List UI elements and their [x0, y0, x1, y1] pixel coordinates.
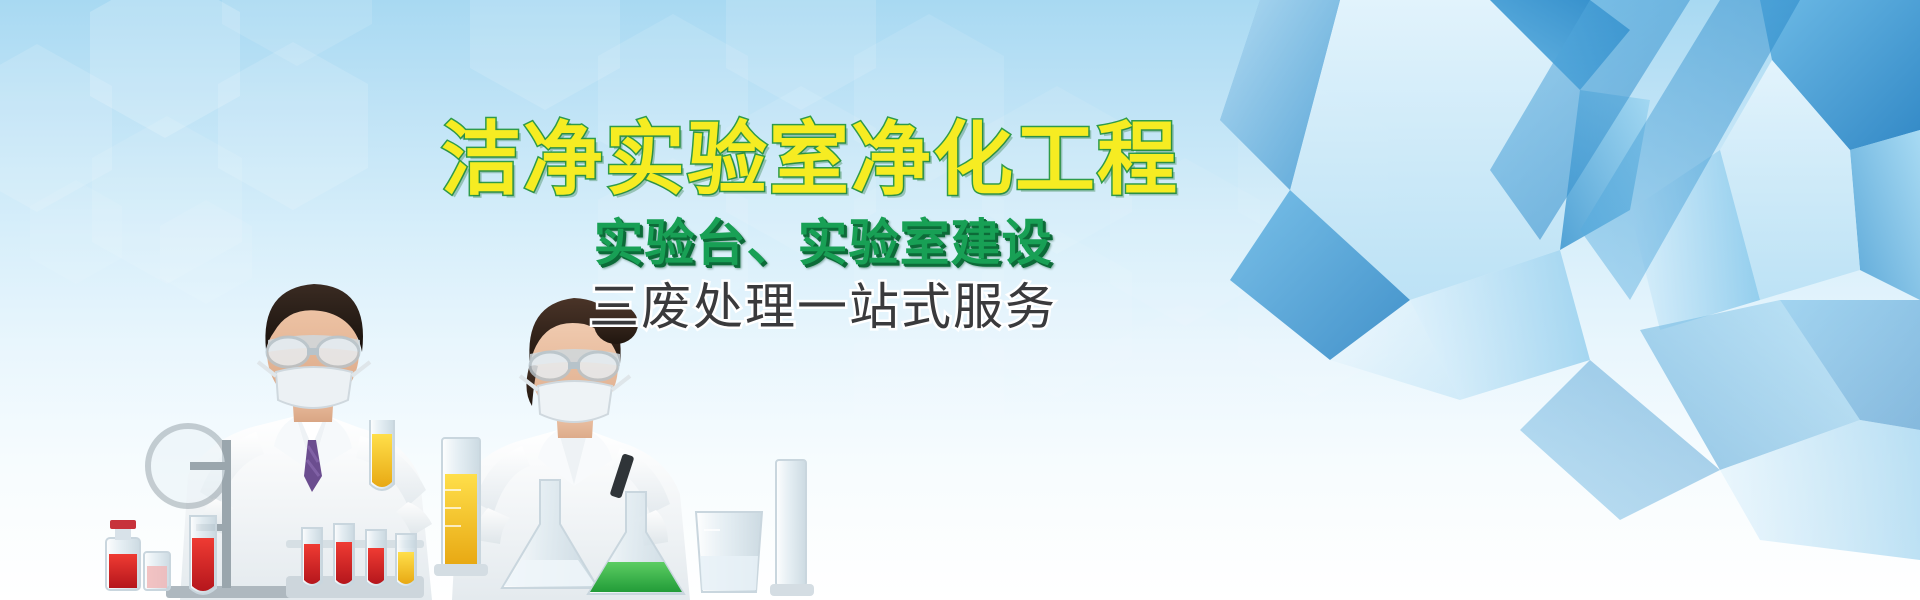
hexagon-icon [726, 0, 876, 110]
hexagon-icon [470, 0, 620, 110]
headline-tertiary: 三废处理一站式服务 [430, 280, 1190, 334]
crystal-polygons-icon [1160, 0, 1920, 600]
crystal-decoration-layer [1160, 0, 1920, 600]
headline-block: 洁净实验室净化工程 实验台、实验室建设 三废处理一站式服务 [430, 118, 1190, 334]
headline-secondary: 实验台、实验室建设 [430, 216, 1190, 270]
lab-purification-banner: 洁净实验室净化工程 实验台、实验室建设 三废处理一站式服务 [0, 0, 1920, 600]
hexagon-icon [222, 0, 372, 66]
headline-primary: 洁净实验室净化工程 [430, 118, 1190, 202]
